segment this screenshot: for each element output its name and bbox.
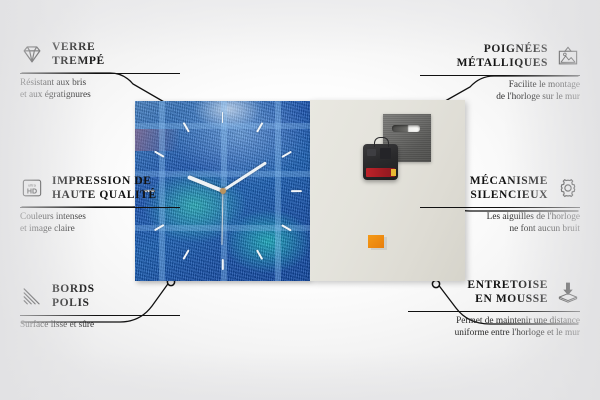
foam-spacer-arrow-icon [556, 281, 580, 303]
callout-title-line2: HAUTE QUALITÉ [52, 189, 157, 201]
callout-sub-line1: Permet de maintenir une distance [456, 316, 580, 326]
face-warm-tint [135, 129, 179, 151]
foam-spacer [368, 235, 384, 248]
product-image [135, 101, 465, 281]
callout-title-line2: SILENCIEUX [470, 189, 548, 201]
callout-title-line1: POIGNÉES [484, 43, 548, 55]
hanger-slot [392, 125, 420, 132]
callout-sub-line2: de l'horloge sur le mur [496, 92, 580, 102]
callout-rule [420, 75, 580, 76]
callout-title-line1: ENTRETOISE [467, 279, 548, 291]
mechanism-detail [380, 148, 391, 159]
callout-sub-line2: ne font aucun bruit [510, 224, 580, 234]
callout-entretoise-en-mousse: ENTRETOISEEN MOUSSE Permet de maintenir … [408, 278, 580, 339]
callout-sub-line2: et aux égratignures [20, 90, 91, 100]
callout-rule [420, 207, 580, 208]
hour-marker [182, 249, 189, 259]
diamond-icon [20, 43, 44, 65]
callout-rule [408, 311, 580, 312]
callout-rule [20, 73, 180, 74]
callout-rule [20, 207, 180, 208]
ultra-hd-icon: ultra HD [20, 177, 44, 199]
callout-sub-line1: Les aiguilles de l'horloge [487, 212, 580, 222]
callout-sub-line1: Couleurs intenses [20, 212, 86, 222]
hour-marker [291, 190, 302, 192]
clock-mechanism [363, 144, 398, 180]
hour-marker [256, 249, 263, 259]
hour-marker [222, 112, 224, 123]
callout-bords-polis: BORDSPOLIS Surface lisse et sûre [20, 282, 180, 331]
callout-rule [20, 315, 180, 316]
gear-icon [556, 177, 580, 199]
callout-title-line2: EN MOUSSE [475, 293, 548, 305]
callout-title-line1: MÉCANISME [470, 175, 548, 187]
svg-text:HD: HD [27, 189, 37, 196]
hour-marker [222, 259, 224, 270]
callout-sub-line2: uniforme entre l'horloge et le mur [455, 328, 580, 338]
callout-verre-trempe: VERRETREMPÉ Résistant aux briset aux égr… [20, 40, 180, 101]
callout-title-line2: TREMPÉ [52, 55, 105, 67]
callout-title-line1: BORDS [52, 283, 95, 295]
diagonal-lines-icon [20, 285, 44, 307]
infographic-stage: VERRETREMPÉ Résistant aux briset aux égr… [0, 0, 600, 400]
callout-sub-line1: Résistant aux bris [20, 78, 86, 88]
callout-sub-line1: Facilite le montage [509, 80, 580, 90]
callout-impression-haute-qualite: ultra HD IMPRESSION DEHAUTE QUALITÉ Coul… [20, 174, 180, 235]
callout-title-line2: POLIS [52, 297, 90, 309]
svg-text:ultra: ultra [28, 183, 36, 188]
picture-frame-hanging-icon [556, 45, 580, 67]
hour-hand [187, 175, 224, 193]
callout-title-line2: MÉTALLIQUES [457, 57, 548, 69]
hanger-loop [374, 137, 389, 147]
callout-title-line1: IMPRESSION DE [52, 175, 152, 187]
callout-mecanisme-silencieux: MÉCANISMESILENCIEUX Les aiguilles de l'h… [420, 174, 580, 235]
battery [366, 168, 395, 177]
callout-sub-line2: et image claire [20, 224, 75, 234]
hour-marker [281, 151, 291, 158]
callout-sub-line1: Surface lisse et sûre [20, 320, 94, 330]
face-grid-line [135, 123, 310, 129]
hand-cap [220, 188, 226, 194]
callout-title-line1: VERRE [52, 41, 95, 53]
mechanism-detail [367, 149, 376, 156]
callout-poignees-metalliques: POIGNÉESMÉTALLIQUES Facilite le montaged… [420, 42, 580, 103]
